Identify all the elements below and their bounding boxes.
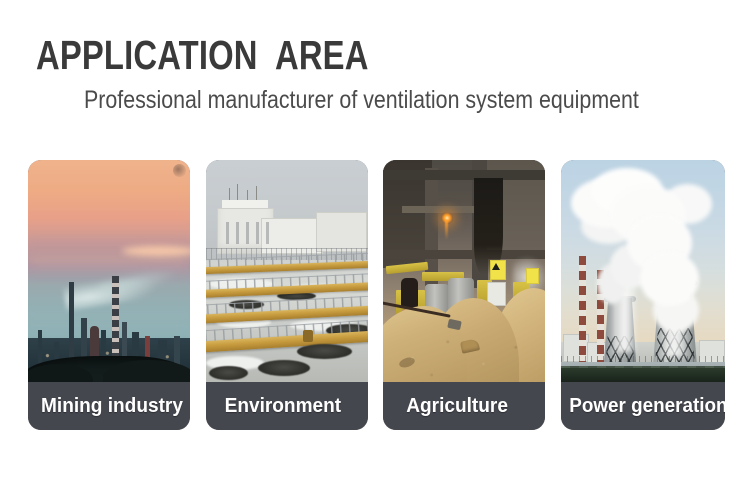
- grain-processing-image: [383, 160, 545, 384]
- refinery-sunset-image: [28, 160, 190, 384]
- application-card-environment[interactable]: Environment: [206, 160, 368, 430]
- application-card-mining-industry[interactable]: Mining industry: [28, 160, 190, 430]
- application-card-agriculture[interactable]: Agriculture: [383, 160, 545, 430]
- card-label-bar: Power generation: [561, 382, 725, 430]
- card-label-text: Agriculture: [383, 394, 508, 418]
- application-card-grid: Mining industry: [0, 160, 750, 432]
- application-card-power-generation[interactable]: Power generation: [561, 160, 725, 430]
- watermark-icon: [173, 164, 186, 177]
- card-label-text: Power generation: [561, 394, 725, 418]
- card-label-text: Mining industry: [28, 394, 183, 418]
- application-area-section: APPLICATION AREA Professional manufactur…: [0, 0, 750, 500]
- card-label-text: Environment: [206, 394, 341, 418]
- card-label-bar: Environment: [206, 382, 368, 430]
- page-title: APPLICATION AREA: [36, 31, 369, 79]
- wastewater-plant-image: [206, 160, 368, 384]
- page-subtitle: Professional manufacturer of ventilation…: [84, 85, 639, 115]
- power-plant-image: [561, 160, 725, 384]
- card-label-bar: Agriculture: [383, 382, 545, 430]
- card-label-bar: Mining industry: [28, 382, 190, 430]
